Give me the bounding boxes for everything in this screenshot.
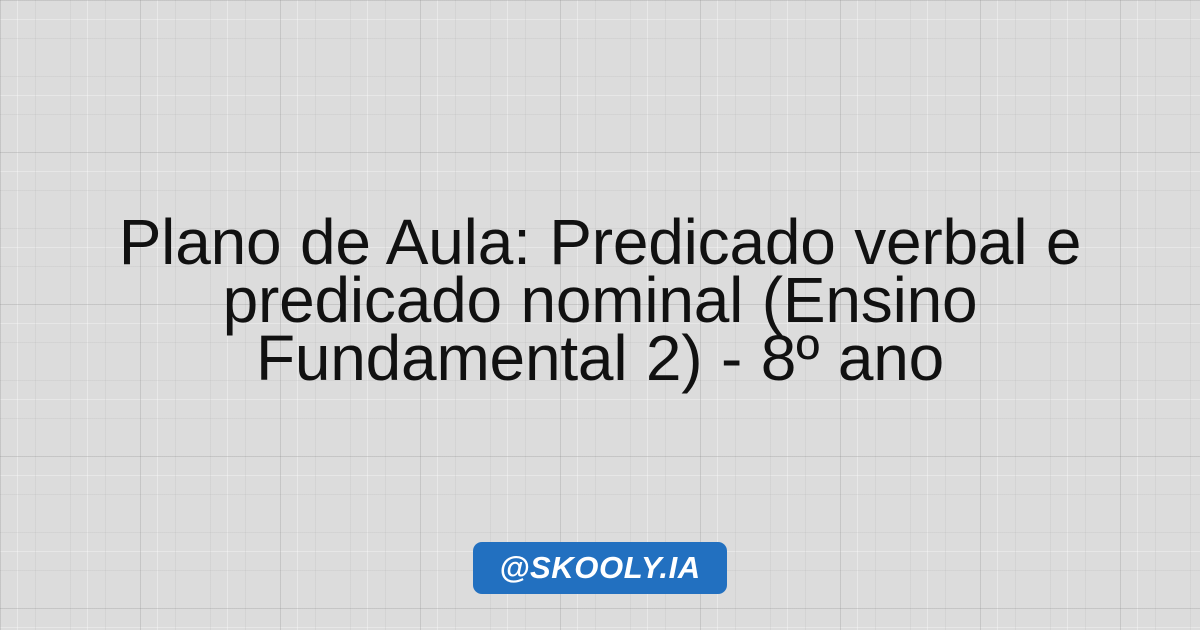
page-title: Plano de Aula: Predicado verbal e predic… (0, 213, 1200, 387)
title-line-2: predicado nominal (Ensino (40, 271, 1160, 329)
social-card: Plano de Aula: Predicado verbal e predic… (0, 0, 1200, 630)
title-line-3: Fundamental 2) - 8º ano (40, 329, 1160, 387)
title-line-1: Plano de Aula: Predicado verbal e (40, 213, 1160, 271)
badge-container: @SKOOLY.IA (0, 542, 1200, 594)
brand-handle-badge[interactable]: @SKOOLY.IA (473, 542, 727, 594)
